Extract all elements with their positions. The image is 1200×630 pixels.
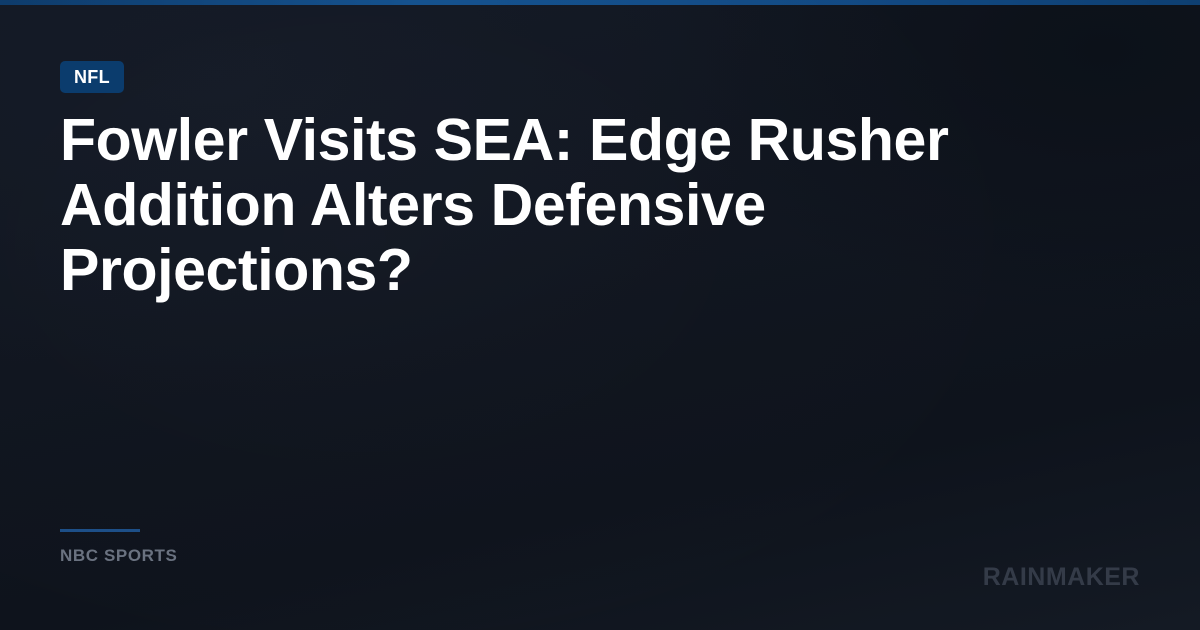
background-vignette (0, 0, 1200, 630)
article-share-card: NFL Fowler Visits SEA: Edge Rusher Addit… (0, 0, 1200, 630)
category-badge-nfl[interactable]: NFL (60, 61, 124, 93)
footer-accent-rule (60, 529, 140, 532)
footer: NBC SPORTS (60, 529, 177, 564)
top-accent-bar (0, 0, 1200, 5)
watermark-rainmaker: RAINMAKER (983, 565, 1140, 590)
source-label: NBC SPORTS (60, 547, 177, 564)
page-title: Fowler Visits SEA: Edge Rusher Addition … (60, 108, 1120, 303)
